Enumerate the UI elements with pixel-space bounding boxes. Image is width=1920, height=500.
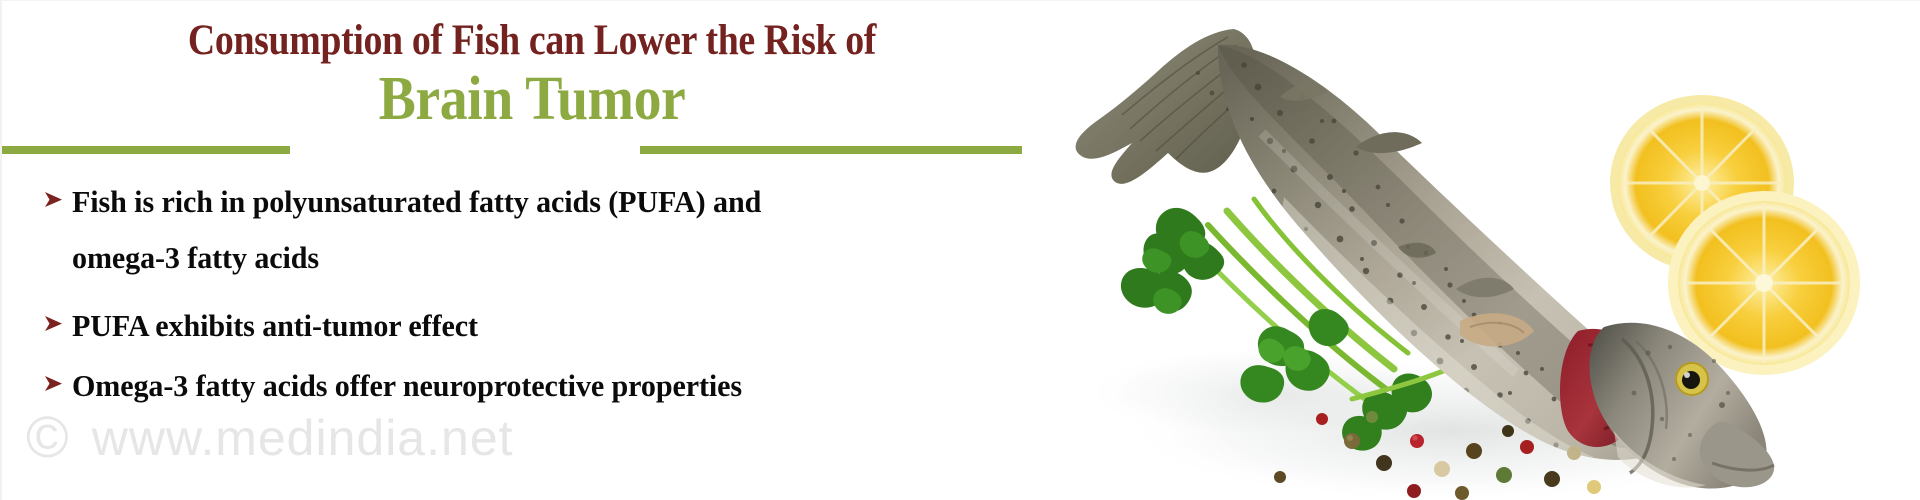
list-item-text-line1: Fish is rich in polyunsaturated fatty ac… xyxy=(72,174,1030,230)
arrow-triangle-right-icon xyxy=(40,174,72,210)
rule-text-mask xyxy=(290,144,640,156)
list-item-text-line2: omega-3 fatty acids xyxy=(72,230,1030,286)
page-title-line1: Consumption of Fish can Lower the Risk o… xyxy=(66,15,999,67)
list-item-text: PUFA exhibits anti-tumor effect xyxy=(72,298,1030,354)
trout-fish-photo xyxy=(1022,1,1920,500)
list-item-text: Fish is rich in polyunsaturated fatty ac… xyxy=(72,174,1030,286)
list-item: Fish is rich in polyunsaturated fatty ac… xyxy=(40,174,1060,286)
arrow-triangle-right-icon xyxy=(40,298,72,334)
watermark-text: www.medindia.net xyxy=(92,409,514,467)
page-title-line2: Brain Tumor xyxy=(55,65,1009,133)
headline-block: Consumption of Fish can Lower the Risk o… xyxy=(2,15,1062,133)
infographic-canvas: Consumption of Fish can Lower the Risk o… xyxy=(0,0,1920,500)
list-item-text: Omega-3 fatty acids offer neuroprotectiv… xyxy=(72,358,1030,414)
watermark: © www.medindia.net xyxy=(26,409,514,467)
list-item: PUFA exhibits anti-tumor effect xyxy=(40,298,1060,354)
copyright-icon: © xyxy=(26,409,70,467)
list-item: Omega-3 fatty acids offer neuroprotectiv… xyxy=(40,358,1060,414)
bullet-list: Fish is rich in polyunsaturated fatty ac… xyxy=(40,174,1060,418)
arrow-triangle-right-icon xyxy=(40,358,72,394)
